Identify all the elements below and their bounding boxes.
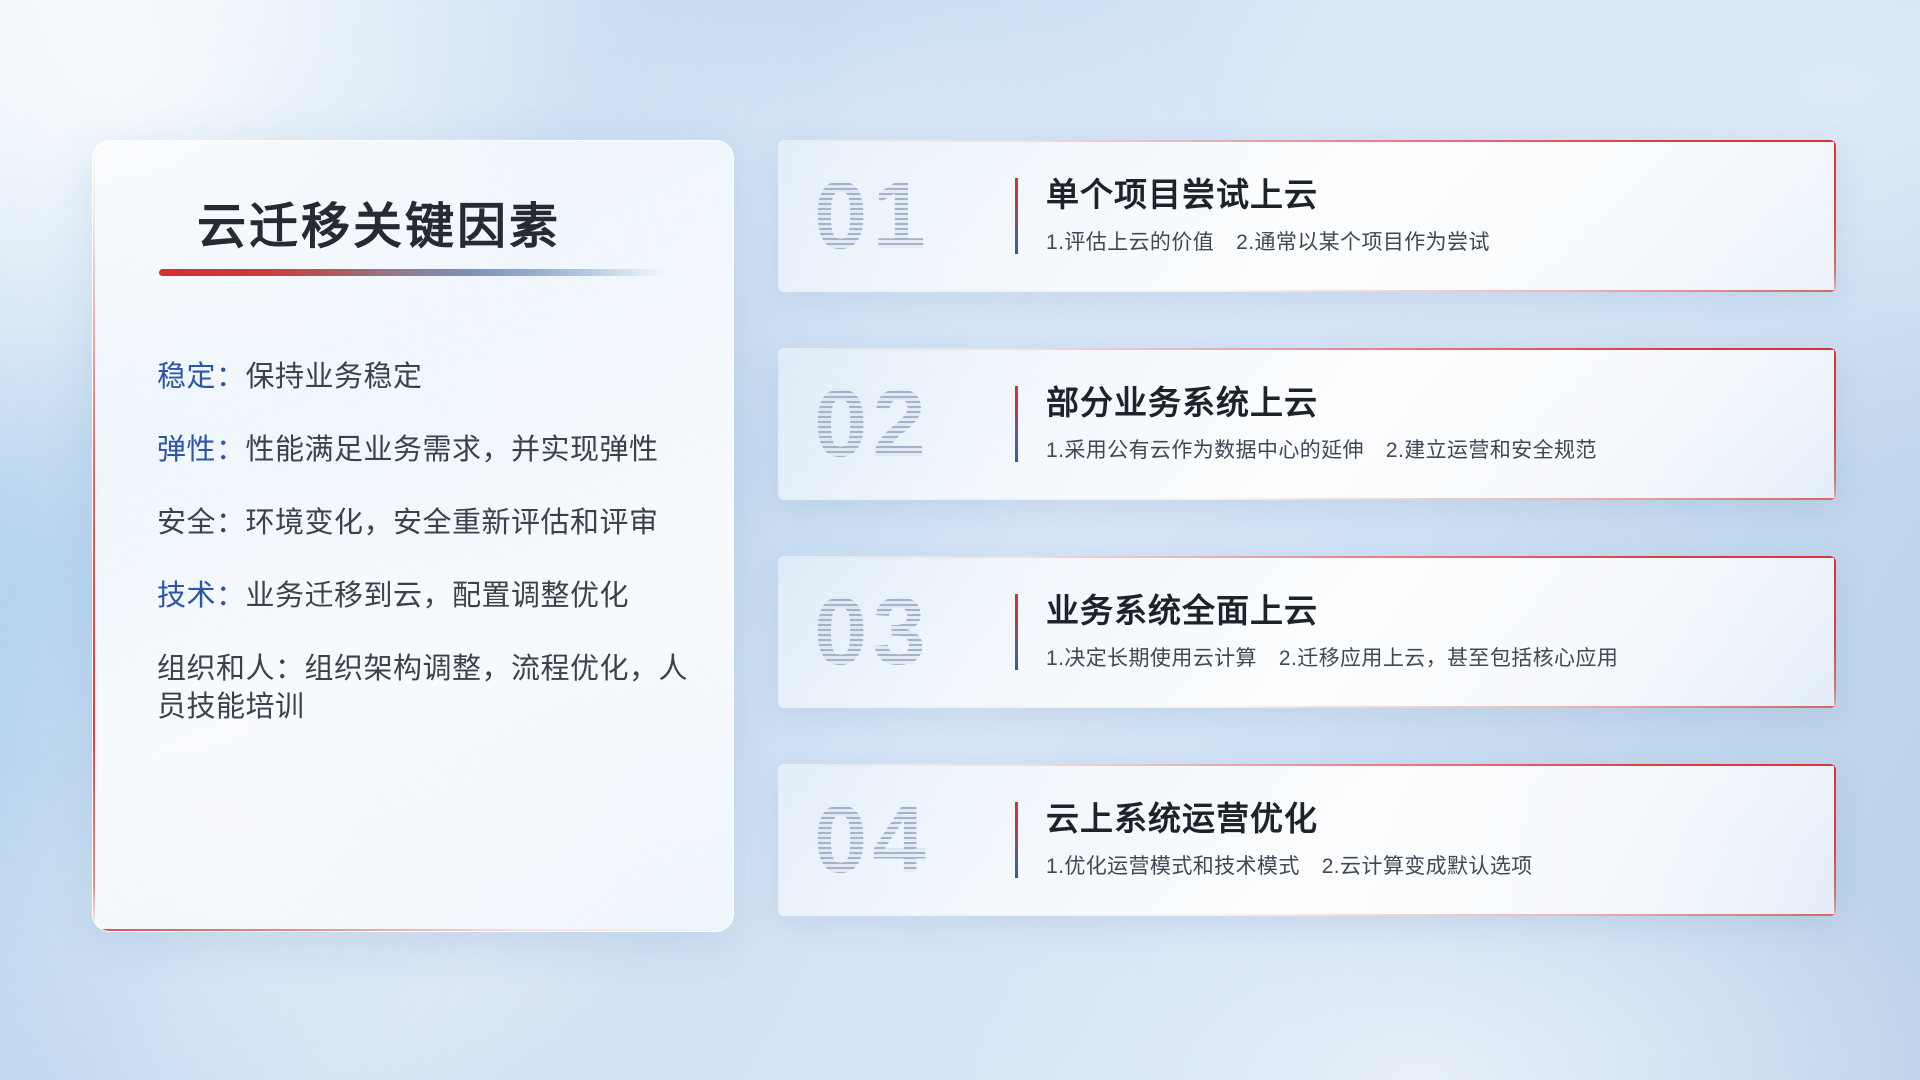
step-divider-bar	[1015, 802, 1018, 878]
step-number: 02	[814, 376, 931, 472]
step-point-2: 2.迁移应用上云，甚至包括核心应用	[1279, 647, 1618, 670]
step-title: 单个项目尝试上云	[1046, 168, 1318, 216]
step-card-03[interactable]: 03 03 业务系统全面上云 1.决定长期使用云计算2.迁移应用上云，甚至包括核…	[778, 556, 1836, 708]
step-card-01[interactable]: 01 01 单个项目尝试上云 1.评估上云的价值2.通常以某个项目作为尝试	[778, 140, 1836, 292]
factor-label: 组织和人：	[157, 653, 305, 685]
step-card-02[interactable]: 02 02 部分业务系统上云 1.采用公有云作为数据中心的延伸2.建立运营和安全…	[778, 348, 1836, 500]
factor-list: 稳定：保持业务稳定 弹性：性能满足业务需求，并实现弹性 安全：环境变化，安全重新…	[133, 359, 707, 762]
factor-item-elasticity: 弹性：性能满足业务需求，并实现弹性	[133, 432, 707, 469]
step-description: 1.决定长期使用云计算2.迁移应用上云，甚至包括核心应用	[1046, 642, 1618, 672]
card-top-accent-line	[778, 764, 1836, 766]
factor-item-security: 安全：环境变化，安全重新评估和评审	[133, 505, 707, 542]
factor-label: 技术：	[157, 580, 246, 612]
step-point-1: 1.优化运营模式和技术模式	[1046, 855, 1300, 878]
panel-title-underline	[159, 269, 669, 276]
card-bottom-accent-line	[778, 498, 1836, 500]
step-point-2: 2.云计算变成默认选项	[1322, 855, 1533, 878]
factor-item-stability: 稳定：保持业务稳定	[133, 359, 707, 396]
card-bottom-accent-line	[778, 290, 1836, 292]
step-card-04[interactable]: 04 04 云上系统运营优化 1.优化运营模式和技术模式2.云计算变成默认选项	[778, 764, 1836, 916]
factor-label: 安全：	[157, 507, 246, 539]
step-number: 04	[814, 792, 931, 888]
step-divider-bar	[1015, 386, 1018, 462]
step-divider-bar	[1015, 178, 1018, 254]
step-title: 业务系统全面上云	[1046, 584, 1318, 632]
card-bottom-accent-line	[778, 914, 1836, 916]
card-top-accent-line	[778, 140, 1836, 142]
factor-item-organization-and-people: 组织和人：组织架构调整，流程优化，人员技能培训	[133, 651, 707, 725]
factor-label: 稳定：	[157, 361, 246, 393]
card-right-accent-line	[1834, 348, 1836, 500]
card-right-accent-line	[1834, 556, 1836, 708]
key-factors-panel: 云迁移关键因素 稳定：保持业务稳定 弹性：性能满足业务需求，并实现弹性 安全：环…	[92, 140, 734, 932]
step-title: 部分业务系统上云	[1046, 376, 1318, 424]
step-description: 1.优化运营模式和技术模式2.云计算变成默认选项	[1046, 850, 1533, 880]
step-point-2: 2.通常以某个项目作为尝试	[1236, 231, 1490, 254]
step-number: 01	[814, 168, 931, 264]
factor-text: 环境变化，安全重新评估和评审	[246, 507, 659, 539]
card-bottom-accent-line	[778, 706, 1836, 708]
panel-left-accent-bar	[93, 141, 95, 931]
step-point-1: 1.采用公有云作为数据中心的延伸	[1046, 439, 1364, 462]
panel-bottom-accent-bar	[93, 929, 733, 931]
factor-text: 保持业务稳定	[246, 361, 423, 393]
panel-title: 云迁移关键因素	[197, 187, 561, 258]
card-right-accent-line	[1834, 764, 1836, 916]
step-number: 03	[814, 584, 931, 680]
card-top-accent-line	[778, 348, 1836, 350]
card-right-accent-line	[1834, 140, 1836, 292]
card-top-accent-line	[778, 556, 1836, 558]
step-description: 1.采用公有云作为数据中心的延伸2.建立运营和安全规范	[1046, 434, 1597, 464]
step-point-2: 2.建立运营和安全规范	[1386, 439, 1597, 462]
step-description: 1.评估上云的价值2.通常以某个项目作为尝试	[1046, 226, 1490, 256]
step-point-1: 1.决定长期使用云计算	[1046, 647, 1257, 670]
factor-text: 业务迁移到云，配置调整优化	[246, 580, 630, 612]
factor-label: 弹性：	[157, 434, 246, 466]
step-point-1: 1.评估上云的价值	[1046, 231, 1214, 254]
factor-text: 性能满足业务需求，并实现弹性	[246, 434, 659, 466]
step-title: 云上系统运营优化	[1046, 792, 1318, 840]
factor-item-technology: 技术：业务迁移到云，配置调整优化	[133, 578, 707, 615]
step-divider-bar	[1015, 594, 1018, 670]
